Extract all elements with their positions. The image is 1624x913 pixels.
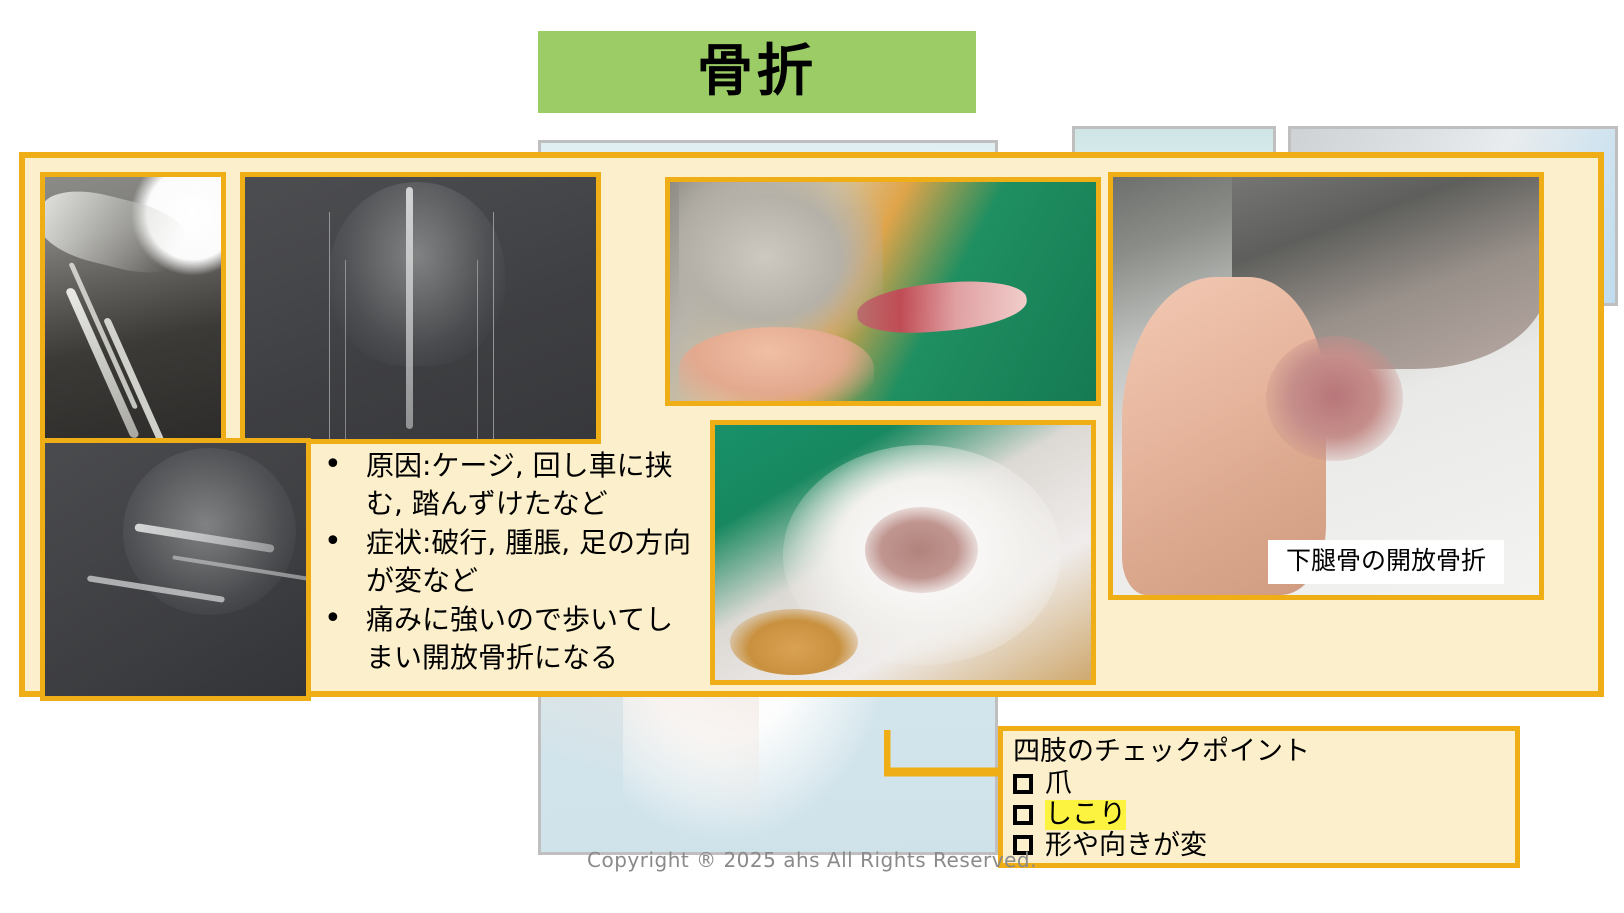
photo-open-fracture-closeup-image	[1108, 172, 1544, 600]
checkpoint-row-nail[interactable]: 爪	[1013, 769, 1515, 799]
photo-swollen-hindleg-image	[665, 177, 1101, 406]
list-item: 痛みに強いので歩いてしまい開放骨折になる	[318, 601, 698, 676]
fracture-photo-caption: 下腿骨の開放骨折	[1268, 540, 1504, 584]
list-item: 症状:破行, 腫脹, 足の方向が変など	[318, 524, 698, 599]
xray-whole-body-ap-image	[240, 172, 601, 444]
list-item: 原因:ケージ, 回し車に挟む, 踏んずけたなど	[318, 447, 698, 522]
checkbox-icon[interactable]	[1013, 805, 1033, 825]
bullet-list: 原因:ケージ, 回し車に挟む, 踏んずけたなど 症状:破行, 腫脹, 足の方向が…	[318, 447, 698, 676]
photo-hamster-body-image	[710, 420, 1096, 685]
photo-open-fracture-foreground	[1266, 336, 1402, 461]
xray-lateral-leg-image-fill	[45, 177, 221, 439]
page-title: 骨折	[697, 44, 817, 100]
copyright-notice: Copyright ® 2025 ahs All Rights Reserved…	[0, 848, 1624, 872]
bullet-list-block: 原因:ケージ, 回し車に挟む, 踏んずけたなど 症状:破行, 腫脹, 足の方向が…	[318, 447, 698, 678]
xray-lateral-body-image	[40, 438, 311, 701]
xray-lateral-leg-image	[40, 172, 226, 444]
xray-whole-body-ap-image-fill	[245, 177, 596, 439]
photo-swollen-hindleg-foreground	[679, 327, 875, 406]
photo-hamster-body-foreground	[730, 609, 858, 675]
xray-lateral-body-image-fill	[45, 443, 306, 696]
slide-title-banner: 骨折	[538, 31, 976, 113]
checkpoint-row-lump[interactable]: しこり	[1013, 800, 1515, 830]
slide-canvas: 骨折 下腿骨の開放骨折 原因:ケージ, 回し車に挟む, 踏んずけたなど 症状:破…	[0, 0, 1624, 913]
checkpoint-label: 爪	[1045, 769, 1072, 799]
checkpoint-label-highlighted: しこり	[1045, 800, 1126, 830]
limb-checkpoint-callout: 四肢のチェックポイント 爪 しこり 形や向きが変	[998, 726, 1520, 868]
checkbox-icon[interactable]	[1013, 774, 1033, 794]
limb-checkpoint-title: 四肢のチェックポイント	[1013, 737, 1515, 767]
